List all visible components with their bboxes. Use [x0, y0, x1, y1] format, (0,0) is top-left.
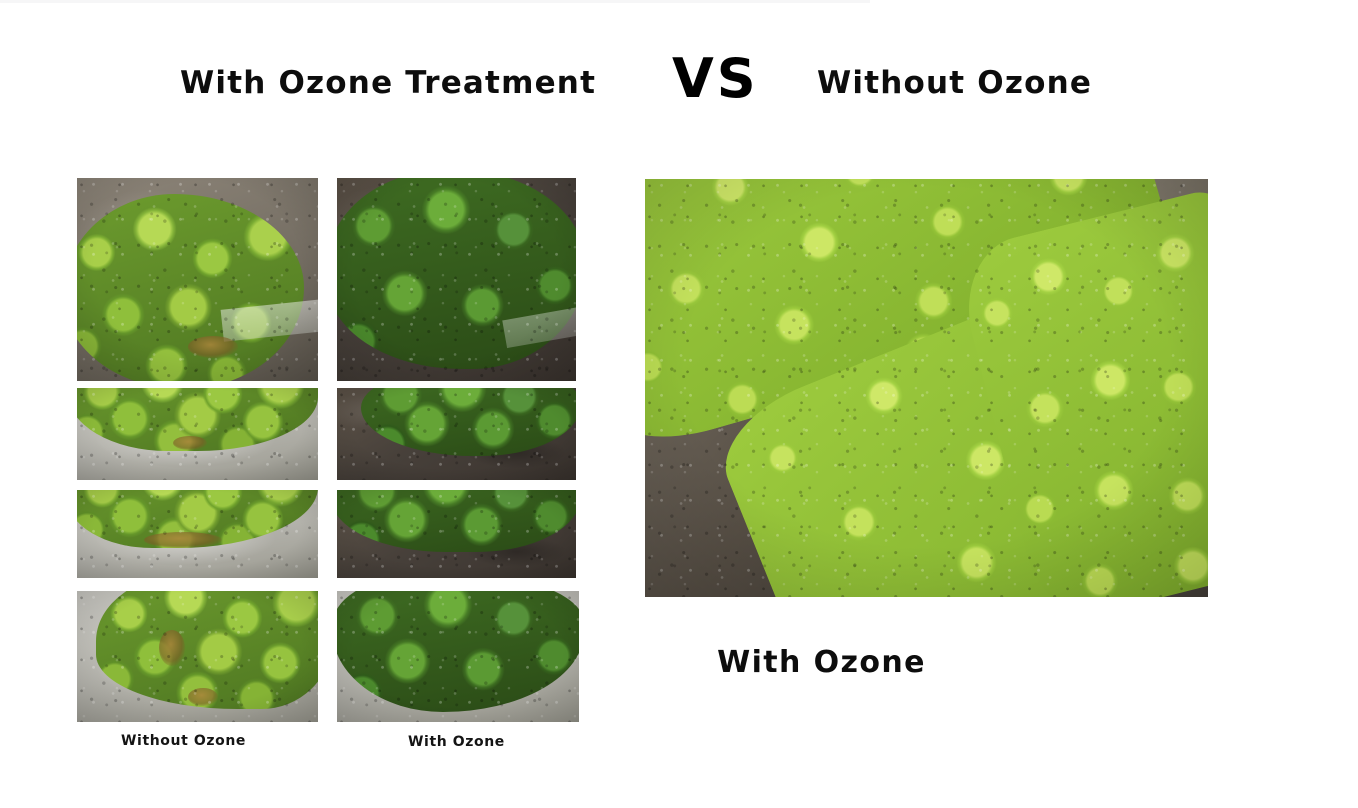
title-vs: VS [672, 47, 759, 110]
photo-lettuce-leaf-tipburn [77, 490, 318, 578]
grid-caption-without-ozone: Without Ozone [121, 733, 246, 749]
photo-lettuce-field-ozone [645, 179, 1208, 597]
photo-necrosis-patch [188, 688, 218, 706]
photo-lettuce-head-healthy-closeup [337, 178, 576, 381]
photo-lettuce-row-dark-soil [337, 388, 576, 480]
photo-lettuce-row-white-mulch [77, 388, 318, 480]
feature-photo-caption-text: With Ozone [717, 645, 926, 680]
headline-row: With Ozone Treatment VS Without Ozone [0, 55, 1358, 125]
photo-necrosis-patch [173, 436, 207, 450]
title-with-ozone-treatment: With Ozone Treatment [180, 65, 596, 101]
top-edge-band [0, 0, 870, 3]
photo-lettuce-head-pale-closeup [77, 178, 318, 381]
title-without-ozone: Without Ozone [817, 65, 1092, 101]
grid-caption-with-ozone: With Ozone [408, 734, 505, 750]
photo-lettuce-row-dense-green [337, 490, 576, 578]
feature-photo-caption: With Ozone [0, 645, 1358, 680]
